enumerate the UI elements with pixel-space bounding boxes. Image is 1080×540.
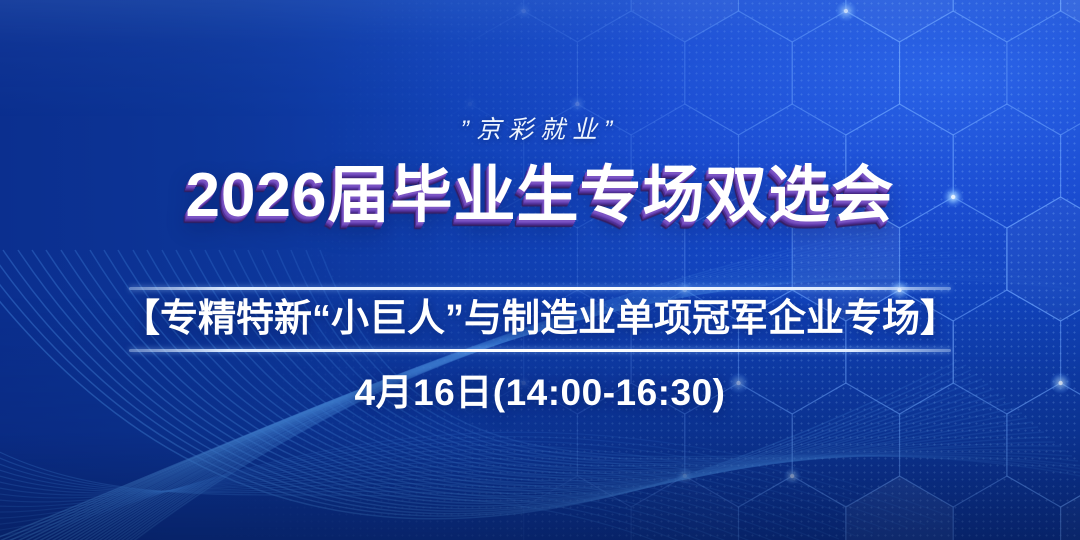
banner-content: ”京彩就业” 2026届毕业生专场双选会 【专精特新“小巨人”与制造业单项冠军企… [0,0,1080,540]
event-banner: ”京彩就业” 2026届毕业生专场双选会 【专精特新“小巨人”与制造业单项冠军企… [0,0,1080,540]
event-tagline: ”京彩就业” [461,118,620,143]
divider-top [129,287,951,290]
divider-bottom [129,349,951,352]
event-datetime: 4月16日(14:00-16:30) [355,374,726,411]
event-subtitle: 【专精特新“小巨人”与制造业单项冠军企业专场】 [122,299,958,340]
subtitle-block: 【专精特新“小巨人”与制造业单项冠军企业专场】 [129,287,951,352]
page-title: 2026届毕业生专场双选会 [186,165,895,227]
